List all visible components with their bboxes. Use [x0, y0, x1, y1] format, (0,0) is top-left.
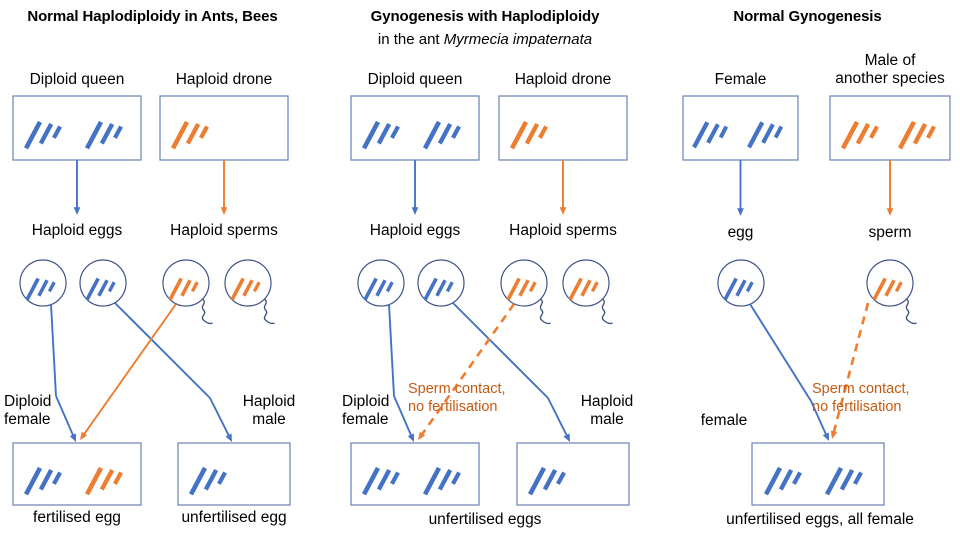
- panel-normal-gynogenesis-note: Sperm contact, no fertilisation: [812, 380, 952, 416]
- panel-normal-gynogenesis-title: Normal Gynogenesis: [655, 8, 960, 25]
- diagram-canvas: Normal Haplodiploidy in Ants, BeesDiploi…: [0, 0, 960, 540]
- panel-gynogenesis-haplodiploidy-haploid-drone-label: Haploid drone: [471, 71, 655, 89]
- panel-normal-gynogenesis-sperm-tail: [906, 299, 916, 323]
- panel-normal-haplodiploidy-haploid-drone-meiosis-arrow-head: [221, 207, 228, 215]
- panel-gynogenesis-haplodiploidy-haploid-drone-meiosis-arrow-head: [560, 207, 567, 215]
- panel-gynogenesis-haplodiploidy-egg2-arrow-line: [548, 398, 567, 437]
- panel-gynogenesis-haplodiploidy-note: Sperm contact, no fertilisation: [408, 380, 548, 416]
- panel-gynogenesis-haplodiploidy-title: Gynogenesis with Haplodiploidy: [335, 8, 635, 25]
- panel-normal-haplodiploidy-haploid-male-side-label: Haploid male: [228, 393, 310, 429]
- panel-gynogenesis-haplodiploidy-subtitle-prefix: in the ant: [378, 31, 444, 48]
- panel-normal-gynogenesis-egg-path: [750, 304, 811, 401]
- panel-normal-haplodiploidy-sperm1-arrow-line: [84, 304, 177, 435]
- panel-gynogenesis-haplodiploidy-caption: unfertilised eggs: [335, 511, 635, 529]
- panel-gynogenesis-haplodiploidy-haploid-male-side-label: Haploid male: [566, 393, 648, 429]
- panel-gynogenesis-haplodiploidy-egg1-path: [389, 304, 394, 396]
- panel-normal-haplodiploidy-haploid-male-box: [178, 443, 290, 505]
- panel-normal-gynogenesis-male-label: Male of another species: [800, 52, 960, 88]
- panel-gynogenesis-haplodiploidy-haploid-male-box: [517, 443, 629, 505]
- panel-normal-gynogenesis-offspring-box: [752, 443, 884, 505]
- panel-normal-haplodiploidy-caption-left: fertilised egg: [0, 509, 171, 527]
- panel-gynogenesis-haplodiploidy-diploid-queen-meiosis-arrow-head: [412, 207, 419, 215]
- panel-normal-haplodiploidy-egg2-path: [115, 303, 210, 398]
- panel-normal-haplodiploidy-diploid-queen-meiosis-arrow-head: [74, 207, 81, 215]
- panel-normal-gynogenesis-egg-label: egg: [655, 224, 826, 242]
- panel-normal-gynogenesis-sperm-arrow-head: [831, 431, 837, 439]
- panel-normal-haplodiploidy-haploid-sperms-label: Haploid sperms: [132, 222, 316, 240]
- panel-gynogenesis-haplodiploidy-haploid-sperms-label: Haploid sperms: [471, 222, 655, 240]
- panel-normal-haplodiploidy-egg2-arrow-line: [210, 398, 229, 437]
- panel-normal-haplodiploidy-egg1-path: [51, 304, 56, 396]
- panel-normal-gynogenesis-caption: unfertilised eggs, all female: [700, 511, 940, 529]
- panel-normal-haplodiploidy-title: Normal Haplodiploidy in Ants, Bees: [0, 8, 305, 25]
- panel-gynogenesis-haplodiploidy-subtitle: in the ant Myrmecia impaternata: [335, 31, 635, 48]
- panel-normal-gynogenesis-offspring-side-label: female: [684, 412, 764, 430]
- panel-normal-gynogenesis-male-meiosis-arrow-head: [887, 208, 894, 216]
- panel-gynogenesis-haplodiploidy-subtitle-species: Myrmecia impaternata: [444, 31, 592, 48]
- panel-normal-haplodiploidy-sperm-2-tail: [264, 299, 274, 323]
- panel-normal-gynogenesis-female-meiosis-arrow-head: [737, 208, 744, 216]
- panel-normal-haplodiploidy-caption-right: unfertilised egg: [148, 509, 320, 527]
- panel-gynogenesis-haplodiploidy-sperm-1-tail: [540, 299, 550, 323]
- panel-normal-haplodiploidy-sperm-1-tail: [202, 299, 212, 323]
- panel-normal-gynogenesis-sperm-label: sperm: [802, 224, 960, 242]
- panel-gynogenesis-haplodiploidy-haploid-drone-box: [499, 96, 627, 160]
- panel-gynogenesis-haplodiploidy-sperm-2-tail: [602, 299, 612, 323]
- panel-normal-haplodiploidy-diploid-female-side-label: Diploid female: [4, 393, 86, 429]
- panel-normal-haplodiploidy-haploid-drone-box: [160, 96, 288, 160]
- panel-normal-haplodiploidy-haploid-drone-label: Haploid drone: [132, 71, 316, 89]
